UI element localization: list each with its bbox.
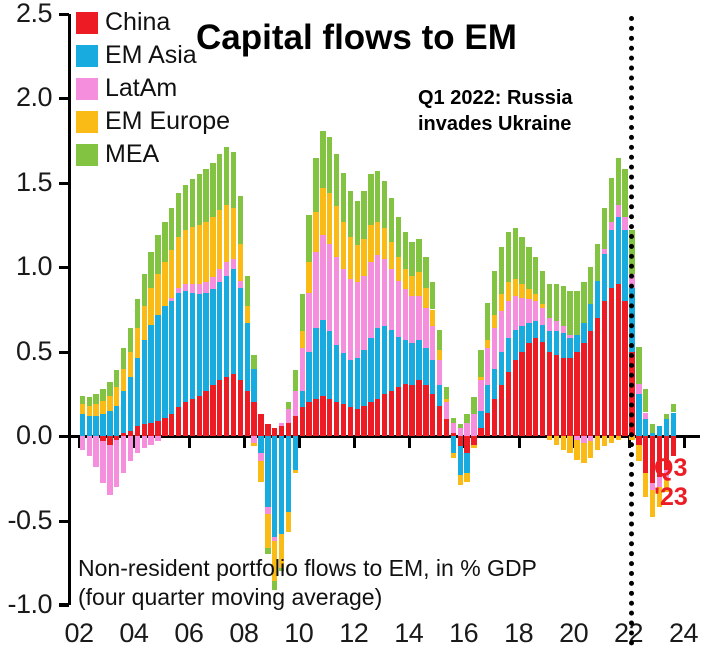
bar-segment (526, 247, 531, 289)
bar-segment (430, 310, 435, 327)
bar-segment (382, 259, 387, 327)
bar-segment (162, 262, 167, 306)
bar-segment (492, 328, 497, 369)
bar-segment (217, 154, 222, 210)
bar-segment (389, 198, 394, 242)
bar-segment (403, 232, 408, 269)
bar-segment (458, 424, 463, 427)
bar-segment (361, 350, 366, 406)
bar-segment (430, 394, 435, 436)
bar-segment (251, 402, 256, 436)
bar-segment (176, 288, 181, 293)
bar-segment (671, 413, 676, 437)
bar-segment (114, 406, 119, 436)
annotation-last-quarter-line1: Q3 (654, 455, 687, 483)
bar-segment (238, 380, 243, 436)
bar-segment (197, 225, 202, 284)
annotation-russia-line1: Q1 2022: Russia (418, 86, 573, 111)
bar-segment (245, 306, 250, 323)
bar-segment (121, 391, 126, 433)
bar-segment (224, 276, 229, 377)
bar-segment (107, 411, 112, 436)
bar-segment (423, 288, 428, 308)
bar-segment (197, 284, 202, 294)
bar-segment (499, 294, 504, 311)
bar-segment (155, 315, 160, 421)
bar-segment (382, 181, 387, 228)
bar-segment (183, 291, 188, 402)
bar-segment (464, 414, 469, 422)
bar-segment (286, 409, 291, 423)
bar-segment (265, 514, 270, 548)
bar-segment (355, 245, 360, 282)
bar-segment (190, 227, 195, 284)
bar-segment (238, 288, 243, 381)
bar-segment (588, 441, 593, 458)
bar-segment (389, 269, 394, 330)
bar-segment (142, 274, 147, 306)
bar-segment (595, 436, 600, 450)
bar-segment (540, 308, 545, 325)
bar-segment (327, 193, 332, 244)
bar-segment (437, 406, 442, 436)
bar-segment (327, 331, 332, 399)
bar-segment (121, 436, 126, 473)
bar-segment (574, 440, 579, 460)
bar-segment (224, 262, 229, 276)
footnote-line1: Non-resident portfolio flows to EM, in %… (78, 555, 537, 582)
bar-segment (409, 276, 414, 296)
bar-segment (458, 446, 463, 475)
bar-segment (499, 311, 504, 352)
bar-segment (513, 279, 518, 296)
bar-segment (643, 436, 648, 473)
bar-segment (210, 217, 215, 278)
bar-segment (245, 323, 250, 391)
bar-segment (485, 348, 490, 385)
bar-segment (368, 225, 373, 262)
bar-segment (162, 222, 167, 263)
bar-segment (87, 416, 92, 436)
bar-segment (664, 414, 669, 419)
bar-segment (148, 325, 153, 423)
bar-segment (361, 276, 366, 350)
bar-segment (526, 343, 531, 436)
bar-segment (251, 369, 256, 403)
bar-segment (203, 169, 208, 221)
bar-segment (190, 293, 195, 399)
bar-segment (416, 272, 421, 296)
bar-segment (306, 352, 311, 403)
bar-segment (622, 230, 627, 301)
bar-segment (609, 288, 614, 437)
bar-segment (616, 284, 621, 436)
bar-segment (135, 426, 140, 436)
bar-segment (293, 470, 298, 473)
bar-segment (368, 402, 373, 436)
bar-segment (430, 282, 435, 309)
bar-segment (547, 436, 552, 439)
bar-segment (382, 394, 387, 436)
bar-segment (128, 436, 133, 461)
bar-segment (203, 293, 208, 391)
bar-segment (135, 299, 140, 328)
bar-segment (396, 387, 401, 436)
bar-segment (238, 281, 243, 288)
bar-segment (231, 269, 236, 374)
bar-segment (300, 391, 305, 408)
bar-segment (609, 178, 614, 222)
bar-segment (293, 391, 298, 416)
bar-segment (148, 288, 153, 325)
bar-segment (93, 436, 98, 466)
bar-segment (561, 358, 566, 436)
bar-segment (540, 304, 545, 307)
bar-segment (190, 284, 195, 292)
bar-segment (107, 382, 112, 396)
bar-segment (547, 331, 552, 351)
bar-segment (203, 391, 208, 437)
bar-segment (622, 301, 627, 436)
bar-segment (506, 372, 511, 436)
annotation-russia-line2: invades Ukraine (418, 112, 571, 137)
bar-segment (464, 423, 469, 437)
bar-segment (396, 281, 401, 337)
bar-segment (183, 230, 188, 284)
bar-segment (437, 360, 442, 385)
bar-segment (265, 548, 270, 555)
bar-segment (224, 147, 229, 204)
bar-segment (341, 269, 346, 353)
bar-segment (341, 353, 346, 404)
bar-segment (581, 436, 586, 443)
bar-segment (155, 235, 160, 274)
bar-segment (183, 284, 188, 291)
bar-segment (210, 385, 215, 436)
bar-segment (636, 445, 641, 462)
bar-segment (80, 436, 85, 450)
bar-segment (80, 404, 85, 414)
bar-segment (135, 328, 140, 358)
bar-segment (121, 369, 126, 391)
bar-segment (464, 453, 469, 473)
bar-segment (142, 424, 147, 436)
bar-segment (176, 193, 181, 237)
bar-segment (609, 436, 614, 443)
bar-segment (664, 419, 669, 436)
bar-segment (437, 385, 442, 405)
bar-segment (430, 360, 435, 394)
bar-segment (451, 423, 456, 433)
bar-segment (464, 473, 469, 481)
bar-segment (334, 345, 339, 402)
bar-segment (197, 294, 202, 395)
bar-segment (561, 436, 566, 450)
bar-segment (451, 453, 456, 458)
bar-segment (313, 158, 318, 212)
bar-segment (595, 244, 600, 281)
bar-segment (306, 402, 311, 436)
bar-segment (107, 445, 112, 496)
bar-segment (375, 399, 380, 436)
bar-segment (348, 279, 353, 360)
bar-segment (183, 185, 188, 231)
bar-segment (409, 242, 414, 276)
bar-segment (540, 271, 545, 305)
bar-segment (148, 252, 153, 287)
bar-segment (519, 237, 524, 284)
bar-segment (238, 244, 243, 281)
bar-segment (616, 217, 621, 285)
bar-segment (327, 399, 332, 436)
bar-segment (286, 402, 291, 409)
bar-segment (100, 401, 105, 415)
bar-segment (258, 461, 263, 481)
bar-segment (609, 230, 614, 287)
bar-segment (609, 222, 614, 230)
bar-segment (643, 413, 648, 420)
bar-segment (224, 377, 229, 436)
bar-segment (121, 348, 126, 368)
bar-segment (533, 294, 538, 301)
bar-segment (526, 323, 531, 343)
bar-segment (416, 380, 421, 436)
event-vertical-line (629, 16, 634, 646)
bar-segment (396, 257, 401, 281)
bar-segment (87, 397, 92, 405)
bar-segment (389, 330, 394, 391)
bar-segment (567, 358, 572, 436)
bar-segment (389, 242, 394, 269)
bar-segment (485, 340, 490, 348)
bar-segment (300, 331, 305, 348)
bar-segment (382, 326, 387, 394)
bar-segment (279, 423, 284, 426)
bar-segment (176, 407, 181, 436)
bar-segment (540, 325, 545, 342)
footnote-line2: (four quarter moving average) (78, 584, 382, 611)
bar-segment (258, 453, 263, 461)
bar-segment (519, 352, 524, 436)
bar-segment (93, 416, 98, 436)
bar-segment (519, 326, 524, 351)
bar-segment (217, 269, 222, 283)
bar-segment (375, 171, 380, 222)
bar-segment (251, 436, 256, 443)
bar-segment (499, 352, 504, 386)
bar-segment (224, 205, 229, 262)
bar-segment (142, 340, 147, 424)
bar-segment (169, 301, 174, 414)
bar-segment (300, 348, 305, 390)
annotation-last-quarter-line2: '23 (654, 484, 688, 512)
bar-segment (135, 358, 140, 426)
bar-segment (375, 255, 380, 328)
bar-segment (197, 396, 202, 437)
bar-segment (437, 350, 442, 360)
bar-segment (602, 254, 607, 301)
bar-segment (190, 399, 195, 436)
bar-segment (245, 276, 250, 306)
chart-root: Capital flows to EM China EM Asia LatAm … (0, 0, 707, 661)
bar-segment (492, 369, 497, 399)
bar-segment (396, 217, 401, 258)
bar-segment (616, 436, 621, 439)
bar-segment (616, 205, 621, 217)
bar-segment (368, 338, 373, 402)
bar-segment (265, 507, 270, 514)
bar-segment (313, 328, 318, 399)
bar-segment (169, 250, 174, 297)
bar-segment (320, 188, 325, 235)
bar-segment (107, 436, 112, 444)
bar-segment (93, 404, 98, 416)
bar-segment (506, 232, 511, 283)
bar-segment (155, 274, 160, 315)
bar-segment (148, 423, 153, 437)
bar-segment (155, 436, 160, 441)
bar-segment (100, 389, 105, 401)
bar-segment (526, 289, 531, 299)
bar-segment (382, 228, 387, 258)
bar-segment (320, 320, 325, 396)
bar-segment (334, 206, 339, 257)
bar-segment (361, 239, 366, 276)
bar-segment (554, 284, 559, 321)
bar-segment (602, 249, 607, 254)
bar-segment (602, 436, 607, 446)
bar-segment (574, 352, 579, 436)
bar-segment (430, 326, 435, 360)
bar-segment (238, 196, 243, 243)
bar-segment (492, 271, 497, 315)
bar-segment (142, 306, 147, 340)
bar-segment (231, 374, 236, 436)
bar-segment (423, 348, 428, 385)
bar-segment (513, 296, 518, 330)
bar-segment (650, 424, 655, 432)
bar-segment (100, 441, 105, 483)
bar-segment (128, 352, 133, 377)
bar-segment (478, 428, 483, 436)
bar-segment (93, 394, 98, 404)
bar-segment (643, 419, 648, 436)
bar-segment (348, 191, 353, 237)
bar-segment (671, 404, 676, 412)
bar-segment (258, 436, 263, 453)
bar-segment (231, 259, 236, 269)
bar-segment (355, 358, 360, 409)
bar-segment (499, 385, 504, 436)
bar-segment (554, 321, 559, 331)
bar-segment (341, 173, 346, 222)
bar-segment (197, 174, 202, 225)
bar-segment (622, 169, 627, 216)
bar-segment (444, 399, 449, 402)
bar-segment (327, 137, 332, 193)
bar-segment (602, 208, 607, 249)
bar-segment (437, 330, 442, 350)
bar-segment (368, 262, 373, 338)
bar-segment (561, 286, 566, 327)
bar-segment (458, 428, 463, 436)
bar-segment (300, 294, 305, 331)
bar-segment (588, 304, 593, 331)
bar-segment (348, 360, 353, 407)
bar-segment (148, 436, 153, 444)
bar-segment (451, 436, 456, 453)
bar-segment (478, 380, 483, 410)
bar-segment (361, 406, 366, 436)
bar-segment (423, 257, 428, 287)
bar-segment (341, 222, 346, 269)
bar-segment (169, 414, 174, 436)
bar-segment (616, 158, 621, 205)
bar-segment (355, 282, 360, 358)
bar-segment (361, 191, 366, 238)
bar-segment (657, 426, 662, 436)
bar-segment (217, 380, 222, 436)
bar-segment (128, 328, 133, 352)
bar-segment (245, 391, 250, 437)
bar-segment (403, 384, 408, 436)
bar-segment (190, 179, 195, 226)
bar-segment (265, 436, 270, 507)
bar-segment (293, 436, 298, 470)
bar-segment (403, 289, 408, 340)
bar-segment (320, 396, 325, 437)
bar-segment (203, 282, 208, 292)
bar-segment (155, 421, 160, 436)
bar-segment (183, 402, 188, 436)
bar-segment (471, 436, 476, 444)
bar-segment (334, 402, 339, 436)
bar-segment (526, 299, 531, 323)
bar-segment (286, 436, 291, 512)
bar-segment (210, 289, 215, 385)
bar-segment (114, 440, 119, 487)
bar-segment (210, 163, 215, 217)
bar-segment (554, 436, 559, 444)
bar-segment (561, 333, 566, 358)
bar-segment (581, 323, 586, 343)
bar-segment (355, 201, 360, 245)
bar-segment (581, 443, 586, 463)
bar-segment (458, 436, 463, 446)
bar-segment (533, 321, 538, 338)
bar-segment (622, 217, 627, 231)
bar-segment (499, 247, 504, 294)
bar-segment (203, 222, 208, 283)
bar-segment (513, 330, 518, 360)
bar-segment (602, 301, 607, 436)
bar-segment (595, 281, 600, 318)
bar-segment (409, 343, 414, 385)
bar-segment (444, 419, 449, 436)
bar-segment (87, 436, 92, 456)
bar-segment (217, 282, 222, 380)
bar-segment (444, 387, 449, 399)
bar-segment (176, 293, 181, 408)
bar-segment (210, 277, 215, 289)
bar-segment (581, 282, 586, 323)
bar-segment (533, 338, 538, 436)
bar-segment (416, 239, 421, 273)
bar-segment (87, 406, 92, 416)
bar-segment (279, 426, 284, 436)
bar-segment (547, 284, 552, 318)
bar-segment (80, 414, 85, 436)
